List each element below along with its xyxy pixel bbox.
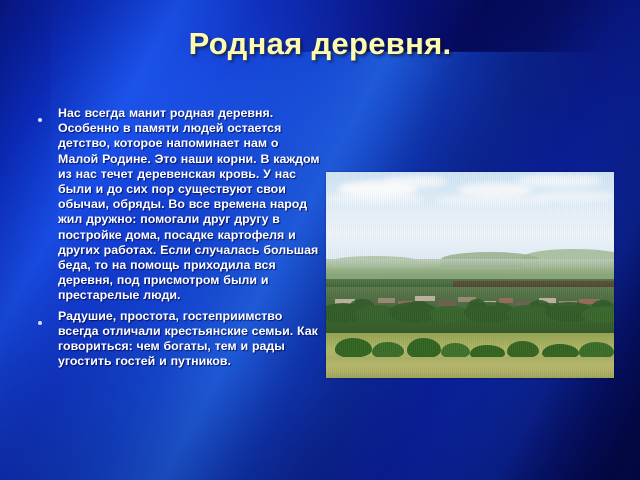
village-landscape-photo [326,172,614,378]
bullet-paragraph: Нас всегда манит родная деревня. Особенн… [58,106,322,304]
slide-title: Родная деревня. [0,26,640,62]
slide-body-text: Нас всегда манит родная деревня. Особенн… [34,106,322,374]
bullet-item: Нас всегда манит родная деревня. Особенн… [34,106,322,304]
bullet-dot-icon [34,309,58,327]
bullet-dot-icon [34,106,58,124]
photo-foreground-grass [326,357,614,378]
presentation-slide: Родная деревня. Нас всегда манит родная … [0,0,640,480]
bullet-item: Радушие, простота, гостеприимство всегда… [34,309,322,370]
bullet-paragraph: Радушие, простота, гостеприимство всегда… [58,309,322,370]
